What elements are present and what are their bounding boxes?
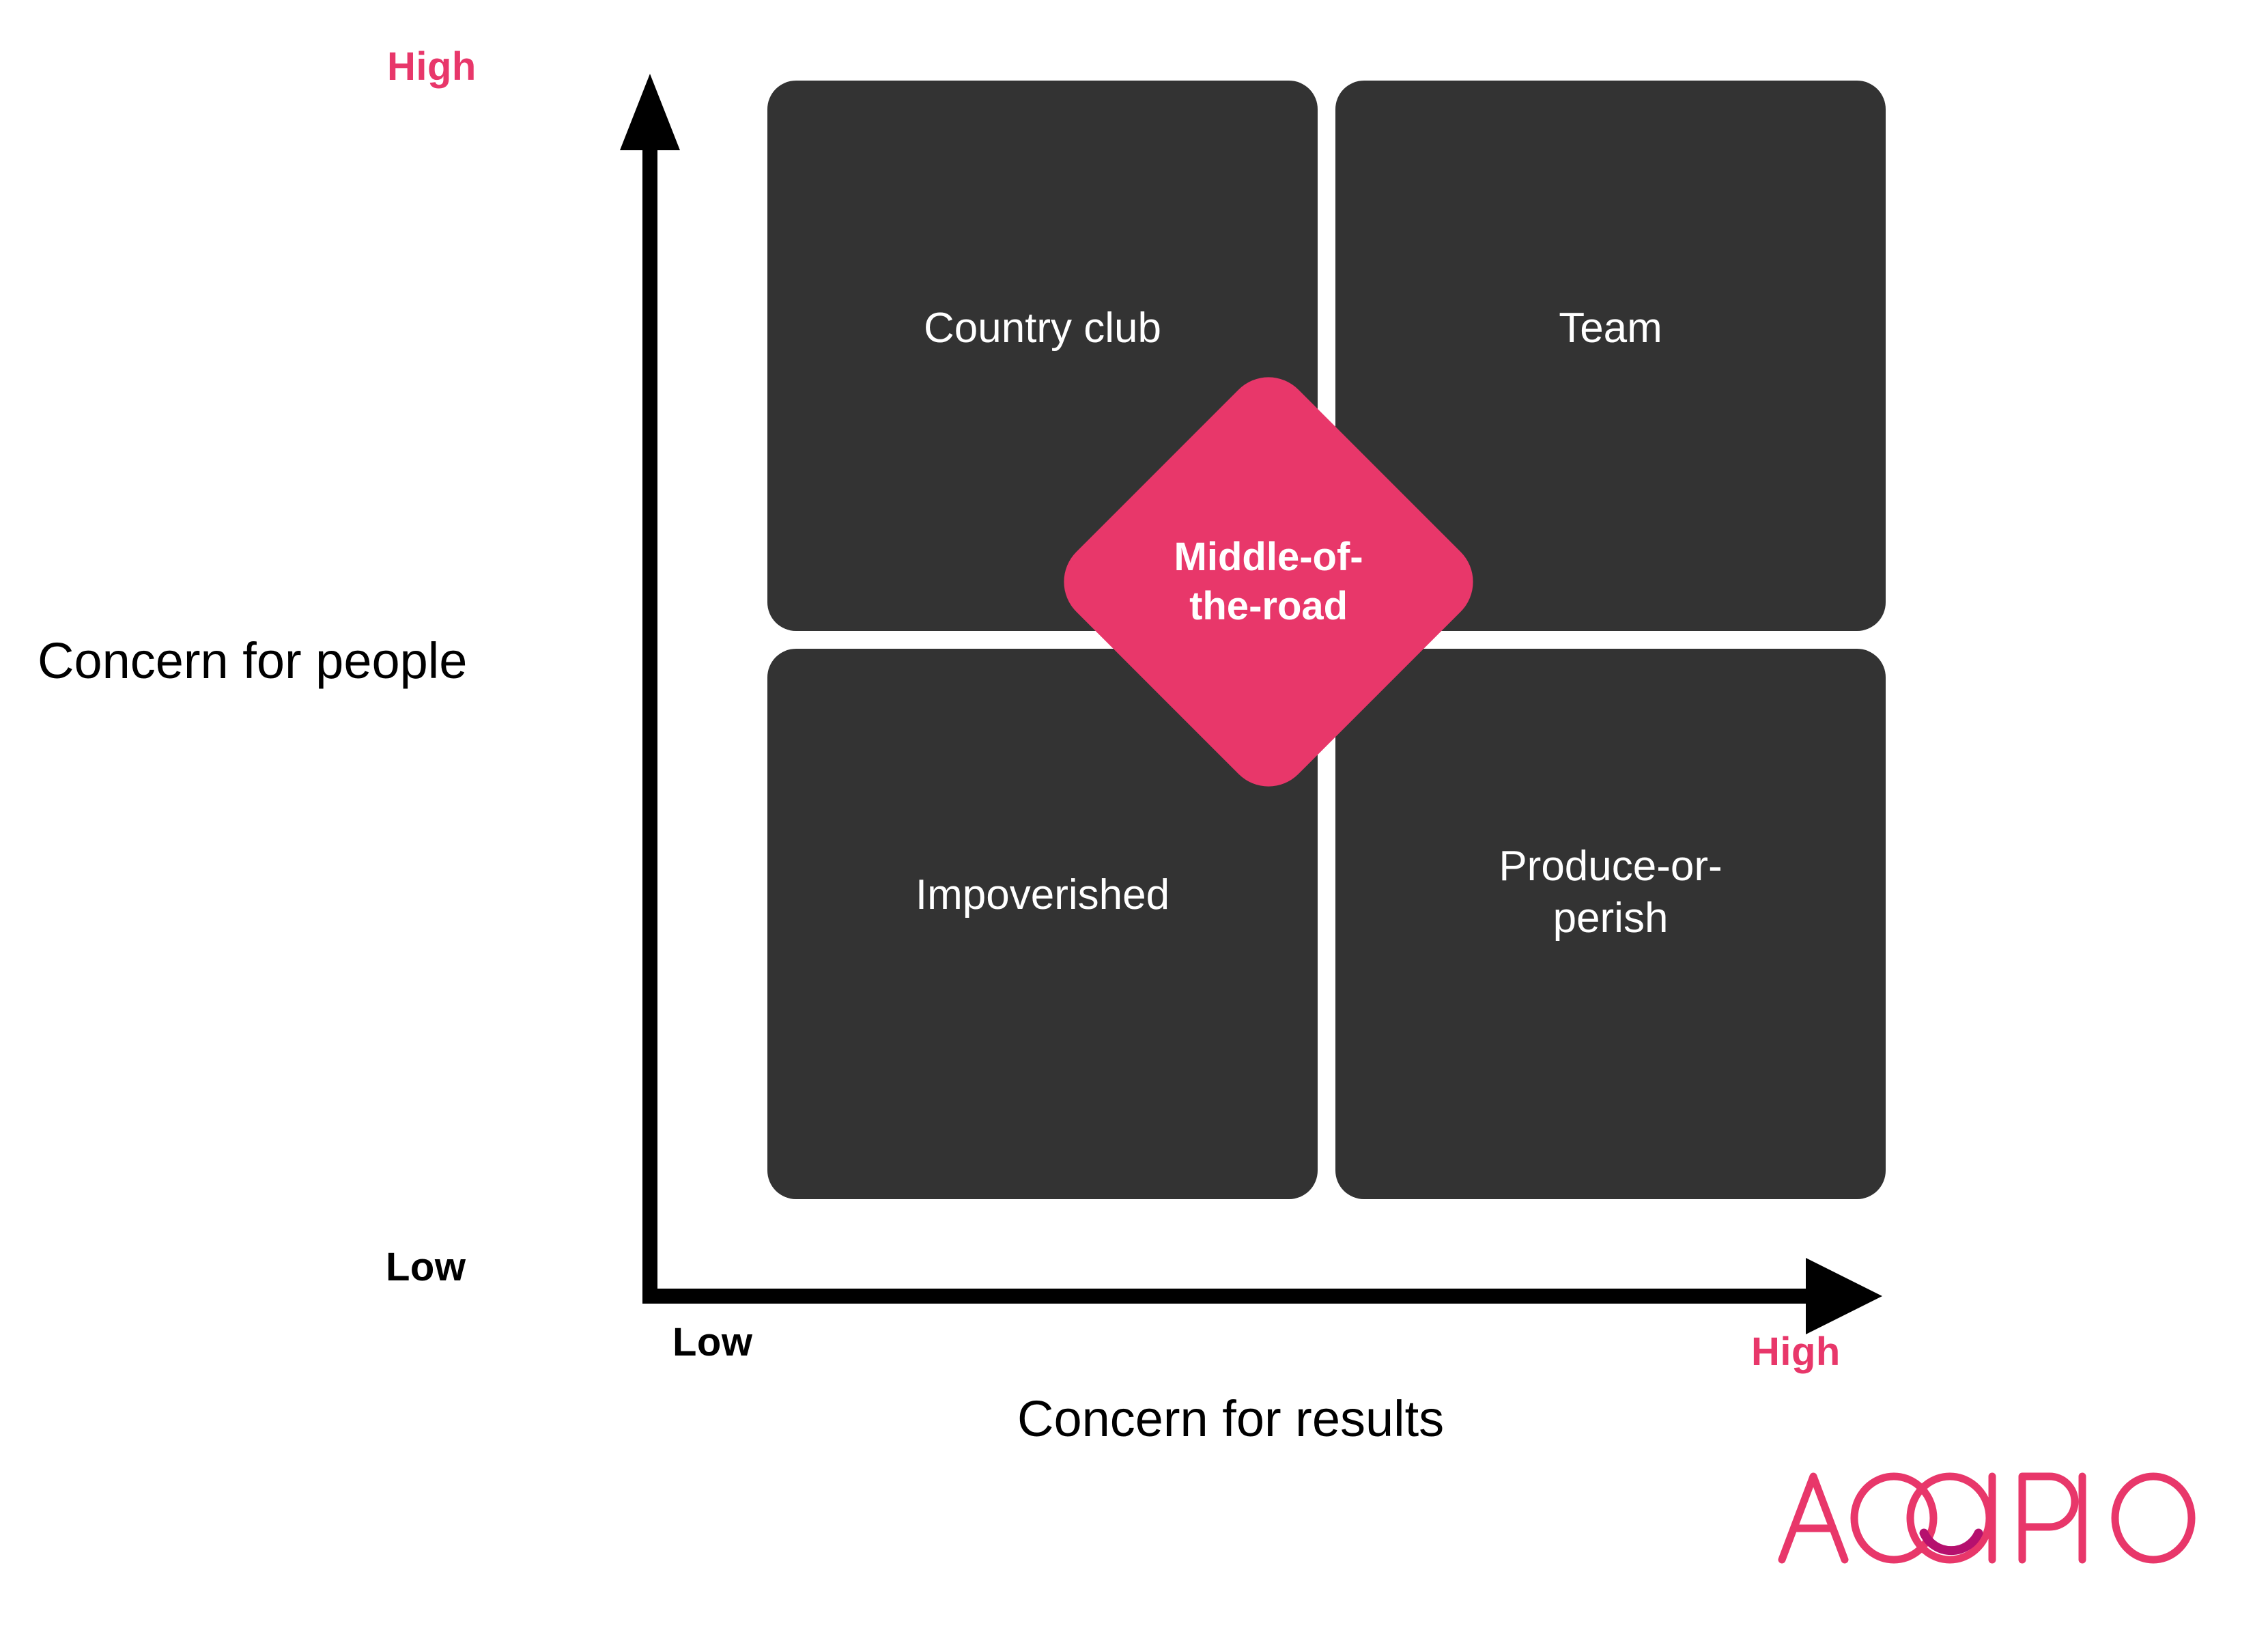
x-axis-low-label: Low: [672, 1319, 752, 1365]
center-diamond-label: Middle-of- the-road: [1125, 533, 1412, 631]
quadrant-grid: Country club Team Impoverished Produce-o…: [767, 81, 1886, 1199]
quadrant-label-country-club: Country club: [806, 303, 1279, 354]
x-axis-line: [642, 1289, 1844, 1304]
accipio-wordmark-icon: [1774, 1467, 2197, 1569]
x-axis-arrow-icon: [1806, 1258, 1882, 1334]
x-axis-high-label: High: [1751, 1329, 1841, 1375]
y-axis-arrow-icon: [620, 74, 680, 150]
quadrant-produce-or-perish[interactable]: Produce-or- perish: [1335, 649, 1886, 1199]
managerial-grid-diagram: High Low Low High Concern for people Con…: [0, 0, 2268, 1628]
quadrant-label-impoverished: Impoverished: [806, 869, 1279, 921]
y-axis-high-label: High: [387, 44, 477, 89]
quadrant-label-team: Team: [1374, 303, 1847, 354]
x-axis-title: Concern for results: [1017, 1390, 1444, 1448]
y-axis-low-label: Low: [386, 1244, 466, 1290]
quadrant-label-produce-or-perish: Produce-or- perish: [1374, 841, 1847, 944]
y-axis-line: [642, 140, 657, 1304]
y-axis-title: Concern for people: [38, 632, 467, 690]
accipio-logo: [1774, 1467, 2197, 1569]
